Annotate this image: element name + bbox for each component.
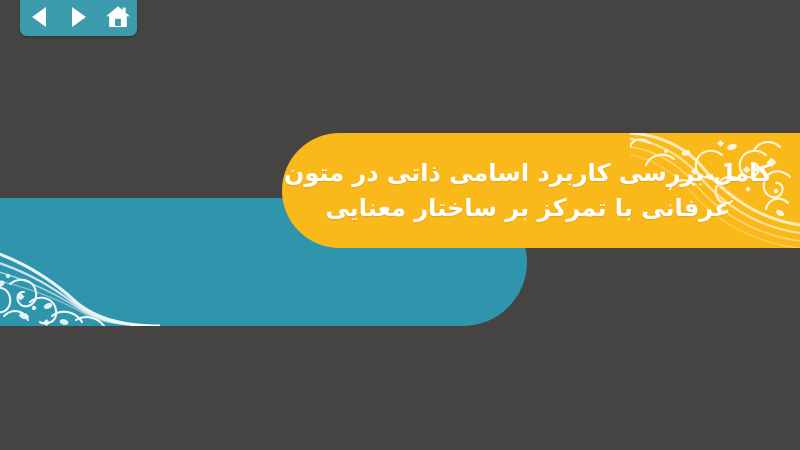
next-slide-button[interactable]: [64, 3, 94, 31]
triangle-left-icon: [30, 6, 50, 28]
slide-canvas: کامل بررسی کاربرد اسامی ذاتی در متون عرف…: [0, 0, 800, 450]
navigation-toolbar: [20, 0, 137, 36]
triangle-right-icon: [70, 6, 87, 28]
home-slide-button[interactable]: [103, 3, 133, 31]
title-line-2: عرفانی با تمرکز بر ساختار معنایی: [325, 191, 730, 225]
arabesque-ornament: [0, 198, 160, 326]
title-banner: کامل بررسی کاربرد اسامی ذاتی در متون عرف…: [282, 133, 800, 248]
slide-title: کامل بررسی کاربرد اسامی ذاتی در متون عرف…: [282, 133, 800, 248]
home-icon: [105, 5, 131, 29]
title-line-1: کامل بررسی کاربرد اسامی ذاتی در متون: [284, 156, 772, 190]
previous-slide-button[interactable]: [25, 3, 55, 31]
